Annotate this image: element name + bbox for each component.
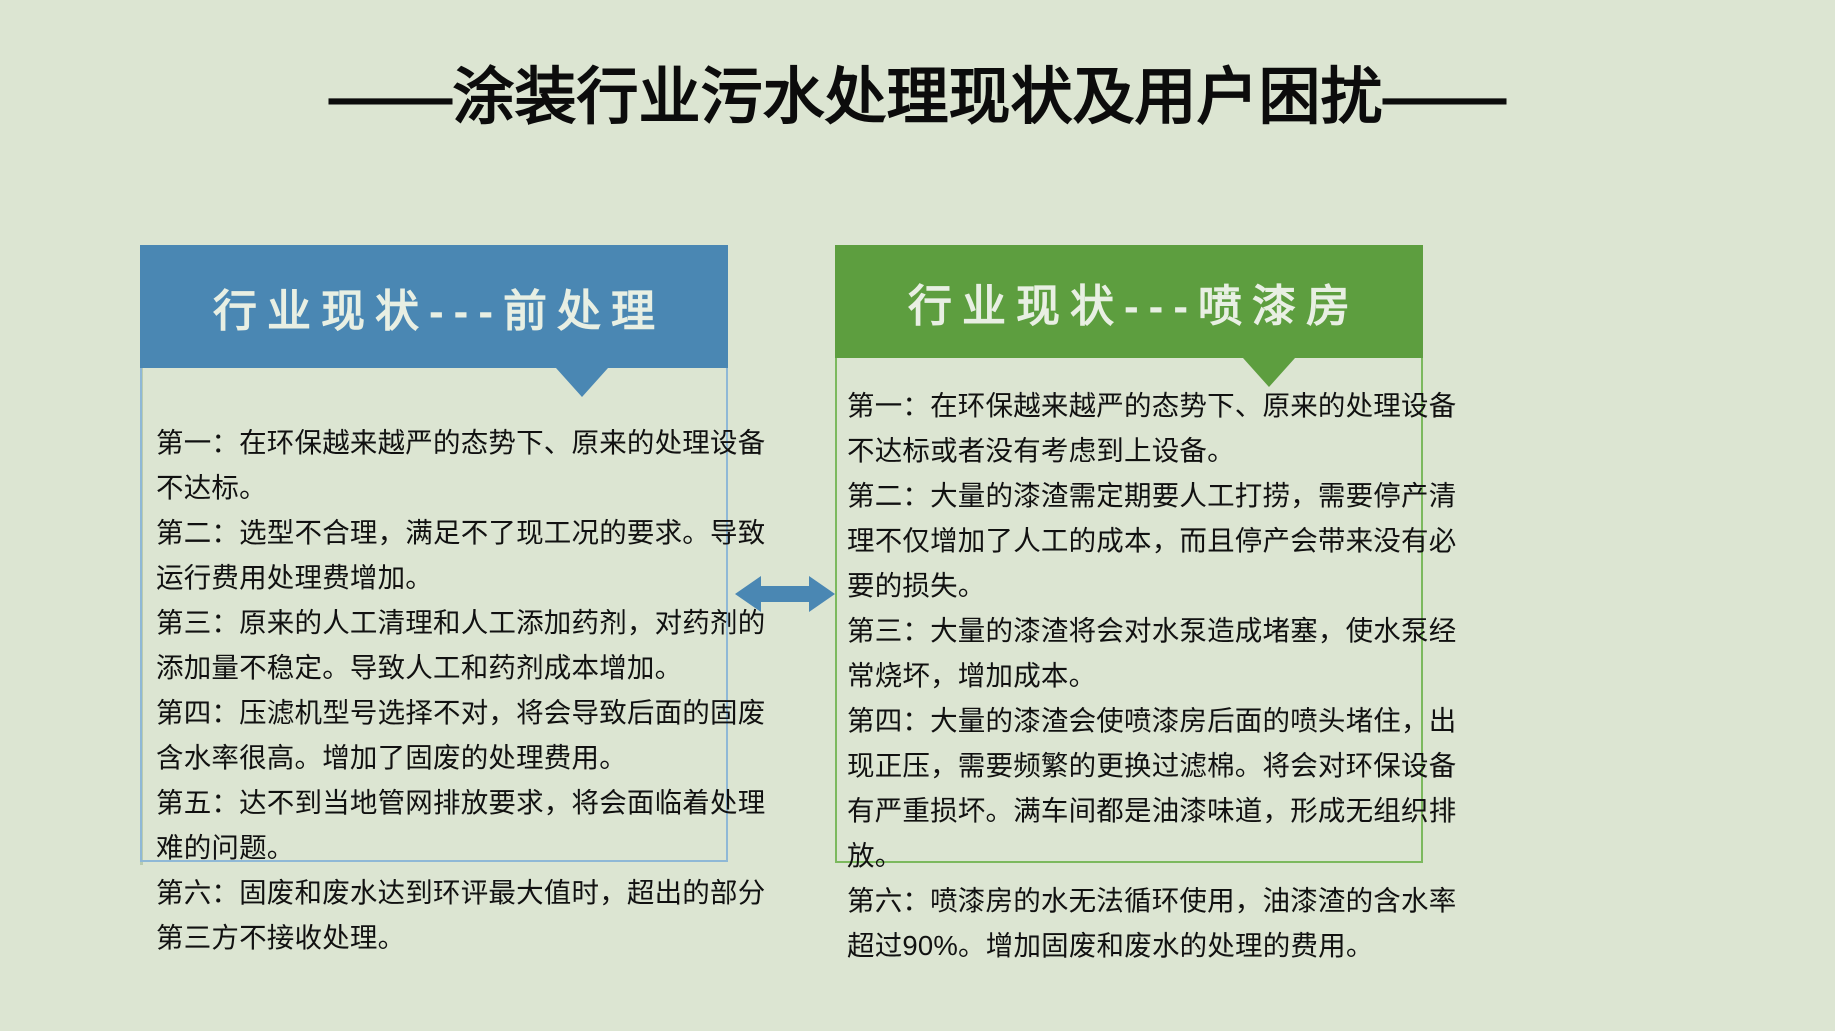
- card-pretreatment: 行业现状---前处理 第一：在环保越来越严的态势下、原来的处理设备不达标。第二：…: [140, 245, 728, 862]
- card-body-line: 第二：选型不合理，满足不了现工况的要求。导致: [156, 510, 726, 555]
- card-body-line: 运行费用处理费增加。: [156, 555, 726, 600]
- card-body-line: 第三方不接收处理。: [156, 915, 726, 960]
- card-spray-booth-header: 行业现状---喷漆房: [835, 245, 1423, 358]
- card-spray-booth-header-label: 行业现状---喷漆房: [898, 270, 1360, 334]
- card-pretreatment-header: 行业现状---前处理: [140, 245, 728, 368]
- card-body-line: 第六：固废和废水达到环评最大值时，超出的部分: [156, 870, 726, 915]
- card-body-line: 难的问题。: [156, 825, 726, 870]
- card-body-line: 含水率很高。增加了固废的处理费用。: [156, 735, 726, 780]
- card-body-line: 有严重损坏。满车间都是油漆味道，形成无组织排: [847, 788, 1421, 833]
- page-title: ——涂装行业污水处理现状及用户困扰——: [0, 64, 1835, 132]
- header-pointer-triangle-icon: [556, 368, 608, 397]
- card-body-line: 现正压，需要频繁的更换过滤棉。将会对环保设备: [847, 743, 1421, 788]
- card-body-line: 不达标或者没有考虑到上设备。: [847, 428, 1421, 473]
- double-headed-arrow-icon: [735, 572, 835, 616]
- card-body-line: 第四：大量的漆渣会使喷漆房后面的喷头堵住，出: [847, 698, 1421, 743]
- card-body-line: 第四：压滤机型号选择不对，将会导致后面的固废: [156, 690, 726, 735]
- card-spray-booth: 行业现状---喷漆房 第一：在环保越来越严的态势下、原来的处理设备不达标或者没有…: [835, 245, 1423, 863]
- card-body-line: 第三：原来的人工清理和人工添加药剂，对药剂的: [156, 600, 726, 645]
- card-body-line: 第三：大量的漆渣将会对水泵造成堵塞，使水泵经: [847, 608, 1421, 653]
- card-body-line: 不达标。: [156, 465, 726, 510]
- card-pretreatment-header-label: 行业现状---前处理: [203, 275, 665, 339]
- card-body-line: 第二：大量的漆渣需定期要人工打捞，需要停产清: [847, 473, 1421, 518]
- card-body-line: 超过90%。增加固废和废水的处理的费用。: [847, 923, 1421, 968]
- card-body-line: 要的损失。: [847, 563, 1421, 608]
- card-body-line: 常烧坏，增加成本。: [847, 653, 1421, 698]
- card-body-line: 放。: [847, 833, 1421, 878]
- card-pretreatment-body: 第一：在环保越来越严的态势下、原来的处理设备不达标。第二：选型不合理，满足不了现…: [140, 368, 728, 862]
- card-body-line: 理不仅增加了人工的成本，而且停产会带来没有必: [847, 518, 1421, 563]
- card-body-line: 添加量不稳定。导致人工和药剂成本增加。: [156, 645, 726, 690]
- card-body-line: 第六：喷漆房的水无法循环使用，油漆渣的含水率: [847, 878, 1421, 923]
- card-body-line: 第五：达不到当地管网排放要求，将会面临着处理: [156, 780, 726, 825]
- card-spray-booth-body: 第一：在环保越来越严的态势下、原来的处理设备不达标或者没有考虑到上设备。第二：大…: [835, 358, 1423, 863]
- card-body-line: 第一：在环保越来越严的态势下、原来的处理设备: [156, 420, 726, 465]
- card-body-line: 第一：在环保越来越严的态势下、原来的处理设备: [847, 383, 1421, 428]
